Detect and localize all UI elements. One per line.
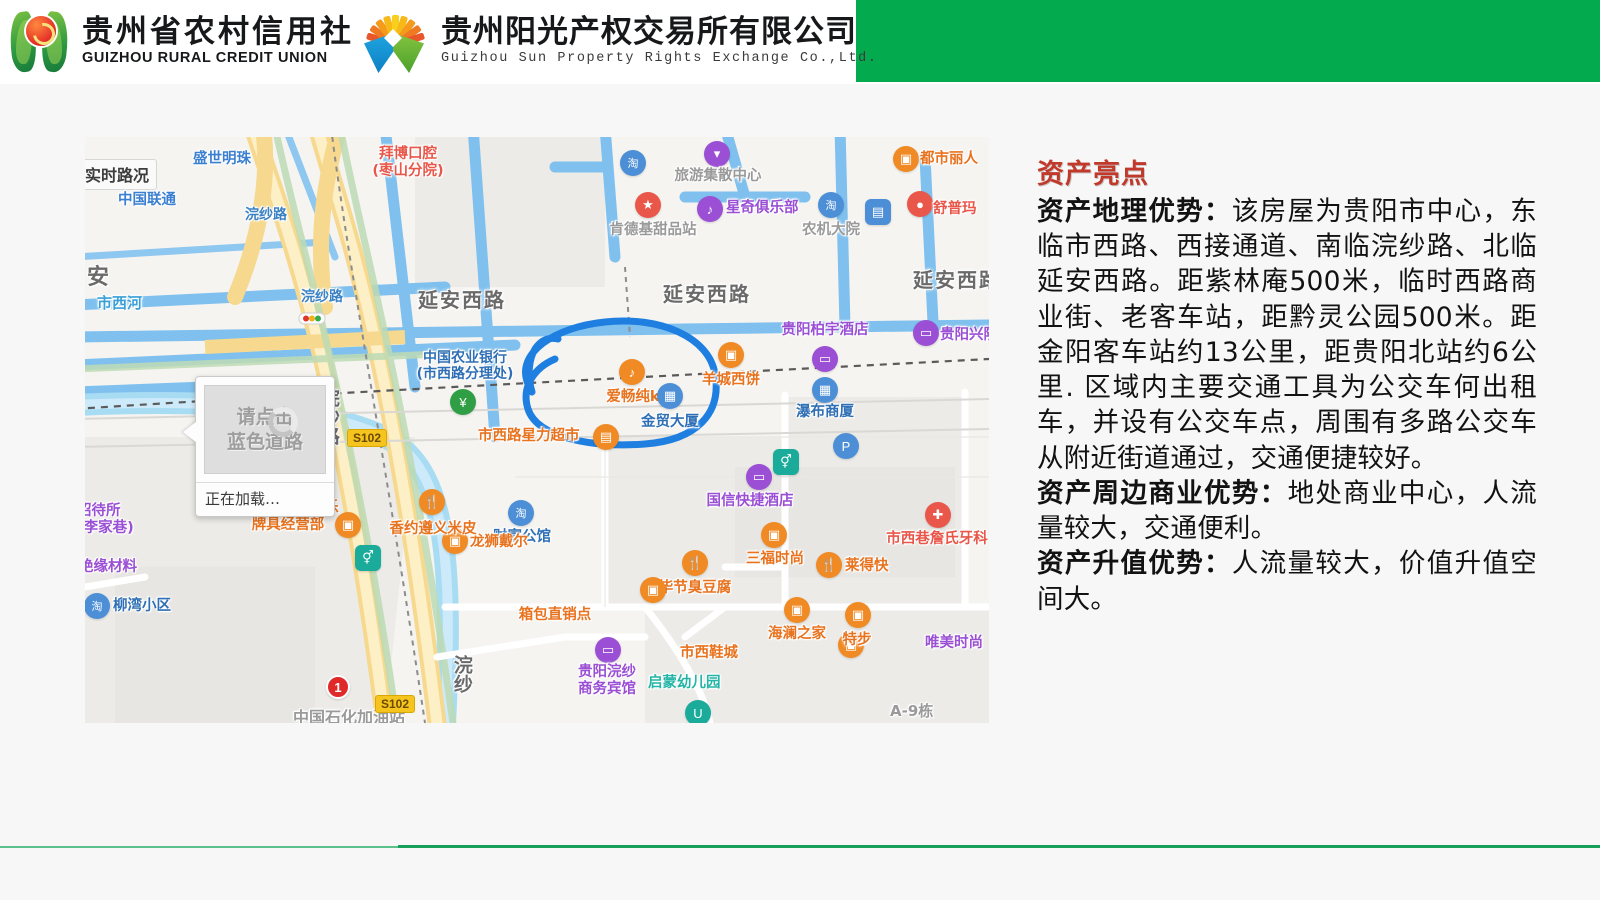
poi-label[interactable]: 瀑布商厦 (796, 404, 854, 421)
section-heading: 资产地理优势： (1037, 196, 1232, 227)
supermarket-pin-icon[interactable]: ▤ (593, 424, 619, 450)
loading-spinner-icon (268, 407, 298, 437)
poi-label[interactable]: 市西鞋城 (680, 645, 738, 662)
road-label[interactable]: 浣纱路 (301, 289, 343, 305)
section-appreciation-advantage: 资产升值优势：人流量较大，价值升值空间大。 (1037, 546, 1537, 616)
header-green-band (856, 0, 1600, 82)
entertainment-pin-icon[interactable]: ♪ (697, 196, 723, 222)
poi-label[interactable]: 国信快捷酒店 (707, 493, 794, 510)
taobao-pin-icon[interactable]: 淘 (818, 192, 844, 218)
numbered-marker-1-icon[interactable]: 1 (326, 675, 350, 699)
poi-label[interactable]: 香约遵义米皮 (390, 521, 477, 538)
section-heading: 资产升值优势： (1037, 548, 1232, 579)
poi-label[interactable]: 中国联通 (118, 192, 176, 209)
shop-pin-icon[interactable]: ▣ (640, 577, 666, 603)
bank-pin-icon[interactable]: ¥ (450, 389, 476, 415)
restaurant-pin-icon[interactable]: 🍴 (682, 550, 708, 576)
poi-label[interactable]: 舒普玛 (933, 201, 977, 218)
poi-label[interactable]: 莱得快 (845, 558, 889, 575)
poi-label[interactable]: 农机大院 (802, 222, 860, 239)
poi-label[interactable]: 贵阳浣纱 商务宾馆 (578, 664, 636, 697)
shop-pin-icon[interactable]: ● (907, 191, 933, 217)
restroom-pin-icon[interactable]: ⚥ (773, 449, 799, 475)
poi-label[interactable]: 三福时尚 (746, 551, 804, 568)
logo-left-name-en: GUIZHOU RURAL CREDIT UNION (82, 50, 354, 66)
shop-pin-icon[interactable]: ▣ (845, 602, 871, 628)
traffic-status-chip[interactable]: 实时路况 (85, 159, 157, 190)
bakery-pin-icon[interactable]: ▣ (718, 342, 744, 368)
taobao-pin-icon[interactable]: 淘 (85, 593, 110, 619)
poi-label[interactable]: 海澜之家 (768, 626, 826, 643)
poi-label[interactable]: A-9栋 (890, 703, 933, 720)
poi-label[interactable]: 羊城西饼 (702, 372, 760, 389)
poi-label[interactable]: 中国农业银行 (市西路分理处) (417, 350, 514, 382)
poi-label[interactable]: 箱包直销点 (519, 607, 592, 624)
kfc-pin-icon[interactable]: ★ (635, 192, 661, 218)
sun-diamond-logo-icon (357, 7, 431, 75)
poi-label[interactable]: 安 (87, 265, 109, 290)
logo-right-name-en: Guizhou Sun Property Rights Exchange Co.… (441, 51, 878, 66)
shop-pin-icon[interactable]: ▣ (761, 522, 787, 548)
taobao-pin-icon[interactable]: 淘 (508, 500, 534, 526)
hotel-pin-icon[interactable]: ▭ (812, 346, 838, 372)
section-geographic-advantage: 资产地理优势：该房屋为贵阳市中心，东临市西路、西接通道、南临浣纱路、北临延安西路… (1037, 194, 1537, 476)
callout-body: 请点击 蓝色道路 (204, 385, 326, 474)
poi-label[interactable]: 绝缘材料 (85, 559, 137, 576)
poi-label[interactable]: 贵阳柏宇酒店 (782, 322, 869, 339)
poi-label[interactable]: 都市丽人 (920, 151, 978, 168)
poi-label[interactable]: 旅游集散中心 (675, 168, 762, 185)
route-shield-s102[interactable]: S102 (347, 429, 387, 447)
river-label: 市西河 (97, 295, 142, 312)
map-loading-callout[interactable]: 请点击 蓝色道路 正在加载… (195, 376, 335, 517)
building-pin-icon[interactable]: ▦ (657, 383, 683, 409)
poi-label[interactable]: 毕节臭豆腐 (659, 580, 732, 597)
route-shield-s102[interactable]: S102 (375, 695, 415, 713)
asset-highlights-panel: 资产亮点 资产地理优势：该房屋为贵阳市中心，东临市西路、西接通道、南临浣纱路、北… (1037, 152, 1537, 617)
poi-label[interactable]: 肯德基甜品站 (610, 222, 697, 239)
ktv-pin-icon[interactable]: ♪ (619, 359, 645, 385)
bus-stop-pin-icon[interactable]: ▤ (865, 199, 891, 225)
poi-label[interactable]: 柳湾小区 (113, 598, 171, 615)
page-title: 资产亮点 (1037, 152, 1537, 191)
restaurant-pin-icon[interactable]: 🍴 (816, 552, 842, 578)
poi-label[interactable]: 市西路星力超市 (478, 428, 580, 445)
poi-label[interactable]: 招待所 (李家巷) (85, 503, 134, 536)
restaurant-pin-icon[interactable]: 🍴 (419, 489, 445, 515)
kindergarten-pin-icon[interactable]: U (685, 700, 711, 723)
hotel-pin-icon[interactable]: ▭ (595, 637, 621, 663)
parking-pin-icon[interactable]: P (833, 433, 859, 459)
taobao-pin-icon[interactable]: 淘 (620, 150, 646, 176)
hotel-pin-icon[interactable]: ▭ (746, 464, 772, 490)
page-header: 贵州省农村信用社 GUIZHOU RURAL CREDIT UNION 贵州阳光… (0, 0, 1600, 84)
logo-guizhou-rural-credit-union: 贵州省农村信用社 GUIZHOU RURAL CREDIT UNION (8, 8, 354, 74)
road-label[interactable]: 延安西路 (663, 283, 751, 306)
clinic-pin-icon[interactable]: ✚ (925, 502, 951, 528)
section-heading: 资产周边商业优势： (1037, 478, 1288, 509)
section-commercial-advantage: 资产周边商业优势：地处商业中心，人流量较大，交通便利。 (1037, 476, 1537, 546)
poi-label[interactable]: 金贸大厦 (641, 414, 699, 431)
section-body: 该房屋为贵阳市中心，东临市西路、西接通道、南临浣纱路、北临延安西路。距紫林庵50… (1037, 196, 1537, 474)
poi-label[interactable]: 星奇俱乐部 (726, 200, 799, 217)
callout-status: 正在加载… (196, 482, 334, 516)
road-label[interactable]: 延安西路 (913, 269, 989, 292)
restroom-pin-icon[interactable]: ⚥ (355, 545, 381, 571)
road-label[interactable]: 浣纱路 (245, 207, 287, 223)
road-label[interactable]: 延安西路 (418, 289, 506, 312)
place-pin-icon[interactable]: ▾ (704, 141, 730, 167)
poi-label[interactable]: 拜博口腔 (枣山分院) (372, 146, 443, 179)
logo-right-name-cn: 贵州阳光产权交易所有限公司 (441, 16, 878, 49)
shop-pin-icon[interactable]: ▣ (784, 597, 810, 623)
poi-label[interactable]: 唯美时尚 (925, 635, 983, 652)
callout-tail-icon (183, 421, 197, 443)
hands-coin-logo-icon (8, 8, 74, 74)
shop-pin-icon[interactable]: ▣ (335, 512, 361, 538)
footer-rule (0, 845, 1600, 848)
building-pin-icon[interactable]: ▦ (812, 377, 838, 403)
hotel-pin-icon[interactable]: ▭ (913, 320, 939, 346)
poi-label[interactable]: 龙狮戴尔 (470, 534, 528, 551)
poi-label[interactable]: 贵阳兴隆 (940, 327, 989, 344)
logo-guizhou-sun-property-rights-exchange: 贵州阳光产权交易所有限公司 Guizhou Sun Property Right… (357, 7, 878, 75)
logo-left-name-cn: 贵州省农村信用社 (82, 16, 354, 49)
poi-label[interactable]: 市西巷詹氏牙科 (886, 531, 988, 548)
poi-label[interactable]: 启蒙幼儿园 (648, 675, 721, 692)
poi-label[interactable]: 盛世明珠 (193, 151, 251, 168)
poi-label[interactable]: 特步 (843, 632, 872, 649)
road-label[interactable]: 浣纱 (450, 655, 472, 693)
map-viewport[interactable]: 实时路况 盛世明珠 中国联通 拜博口腔 (枣山分院) 淘 ▾ 旅游集散中心 ★ … (85, 137, 989, 723)
shop-pin-icon[interactable]: ▣ (893, 146, 919, 172)
poi-label[interactable]: 爱畅纯k (606, 389, 659, 406)
